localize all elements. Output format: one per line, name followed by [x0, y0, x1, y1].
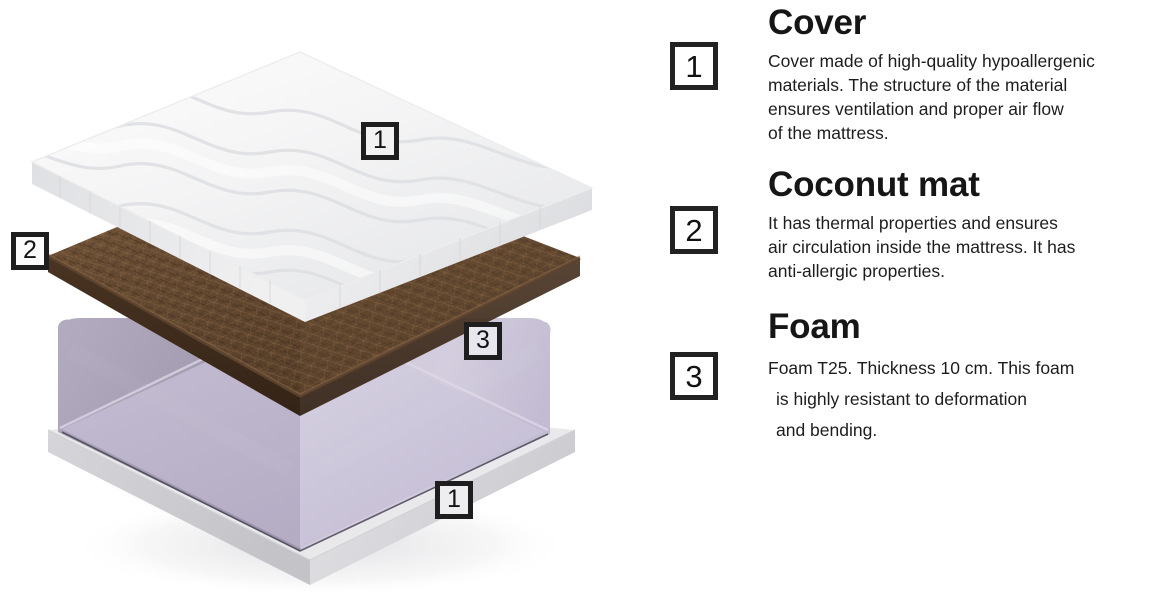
section-2-title: Coconut mat — [768, 164, 1154, 206]
image-badge-coconut: 2 — [11, 232, 49, 270]
image-badge-cover-base: 1 — [435, 481, 473, 519]
section-1-title: Cover — [768, 2, 1154, 44]
section-1-line-1: Cover made of high-quality hypoallergeni… — [768, 49, 1154, 73]
mattress-layers-infographic: 1 2 3 1 1 Cover Cover made of high-quali… — [0, 0, 1154, 605]
section-badge-2: 2 — [670, 206, 718, 254]
image-badge-cover-base-label: 1 — [440, 485, 468, 513]
section-3-line-2: is highly resistant to deformation — [768, 384, 1154, 415]
section-badge-1: 1 — [670, 42, 718, 90]
section-badge-1-label: 1 — [685, 49, 702, 84]
section-1-line-4: of the mattress. — [768, 121, 1154, 145]
layer-descriptions: 1 Cover Cover made of high-quality hypoa… — [660, 0, 1154, 605]
section-badge-3: 3 — [670, 352, 718, 400]
section-badge-3-label: 3 — [685, 359, 702, 394]
section-3-title: Foam — [768, 306, 1154, 348]
section-3-description: Foam T25. Thickness 10 cm. This foam is … — [768, 353, 1154, 446]
image-badge-coconut-label: 2 — [16, 236, 44, 264]
section-3-body: Foam Foam T25. Thickness 10 cm. This foa… — [768, 306, 1154, 446]
section-2-line-1: It has thermal properties and ensures — [768, 211, 1154, 235]
section-3-line-1: Foam T25. Thickness 10 cm. This foam — [768, 353, 1154, 384]
section-2-body: Coconut mat It has thermal properties an… — [768, 164, 1154, 283]
image-badge-cover-top-label: 1 — [366, 126, 394, 154]
layer-section-cover: 1 Cover Cover made of high-quality hypoa… — [660, 2, 1154, 145]
layer-section-coconut-mat: 2 Coconut mat It has thermal properties … — [660, 164, 1154, 283]
section-1-line-3: ensures ventilation and proper air flow — [768, 97, 1154, 121]
image-badge-foam: 3 — [464, 322, 502, 360]
image-badge-foam-label: 3 — [469, 326, 497, 354]
section-1-line-2: materials. The structure of the material — [768, 73, 1154, 97]
section-1-body: Cover Cover made of high-quality hypoall… — [768, 2, 1154, 145]
section-1-description: Cover made of high-quality hypoallergeni… — [768, 49, 1154, 145]
section-2-description: It has thermal properties and ensures ai… — [768, 211, 1154, 283]
section-badge-2-label: 2 — [685, 213, 702, 248]
image-badge-cover-top: 1 — [361, 122, 399, 160]
section-3-line-3: and bending. — [768, 415, 1154, 446]
section-2-line-2: air circulation inside the mattress. It … — [768, 235, 1154, 259]
section-2-line-3: anti-allergic properties. — [768, 259, 1154, 283]
exploded-mattress-diagram: 1 2 3 1 — [0, 0, 660, 605]
layer-section-foam: 3 Foam Foam T25. Thickness 10 cm. This f… — [660, 306, 1154, 446]
